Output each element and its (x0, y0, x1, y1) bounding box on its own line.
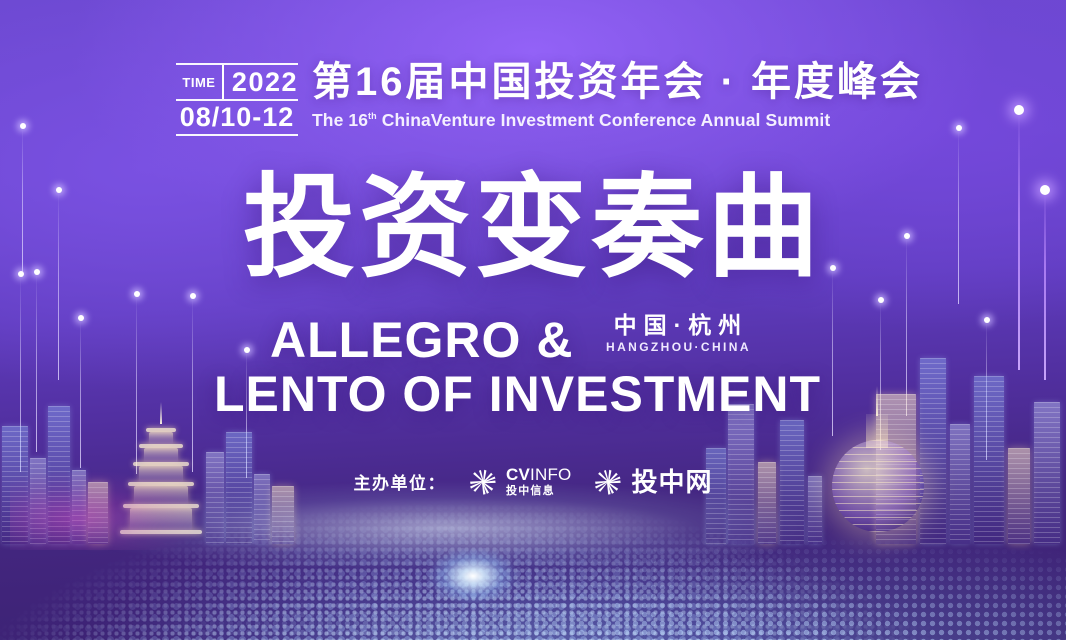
organizer-name-en: CVINFO (506, 466, 571, 483)
city-block: 中国·杭州 HANGZHOU·CHINA (604, 312, 751, 354)
badge-time-label: TIME (176, 65, 222, 99)
organizer-logo-text: 投中网 (631, 469, 712, 495)
badge-rule-bottom (176, 134, 298, 136)
city-name-en: HANGZHOU·CHINA (604, 340, 751, 354)
badge-divider (222, 65, 224, 99)
starburst-icon (593, 467, 623, 497)
conference-poster: TIME 2022 08/10-12 第16届中国投资年会 · 年度峰会 The… (0, 0, 1066, 640)
badge-year: 2022 (232, 65, 298, 99)
theme-en-line1: ALLEGRO & (270, 314, 573, 366)
organizer-logo-cvinfo[interactable]: CVINFO 投中信息 (468, 466, 571, 497)
organizers-label: 主办单位： (354, 469, 447, 494)
theme-headline-cn-wrap: 投资变奏曲 (0, 172, 1066, 284)
organizer-logo-text: CVINFO 投中信息 (506, 466, 571, 497)
organizer-name-en-thin: INFO (530, 465, 571, 484)
badge-rule-mid (176, 99, 298, 101)
city-name-cn: 中国·杭州 (604, 312, 751, 338)
conference-title-en: The 16th ChinaVenture Investment Confere… (312, 110, 923, 131)
organizer-name-en-bold: CV (506, 465, 530, 484)
organizer-name-cn: 投中信息 (506, 486, 571, 497)
date-badge: TIME 2022 08/10-12 (176, 63, 298, 136)
title-en-rest: ChinaVenture Investment Conference Annua… (377, 110, 831, 130)
theme-headline-cn: 投资变奏曲 (243, 172, 823, 284)
conference-title: 第16届中国投资年会 · 年度峰会 The 16th ChinaVenture … (312, 60, 923, 131)
title-en-ordinal: th (368, 111, 377, 121)
badge-days: 08/10-12 (176, 101, 298, 134)
theme-en-line2: LENTO OF INVESTMENT (214, 368, 821, 420)
badge-rule-top (176, 63, 298, 65)
starburst-icon (468, 467, 498, 497)
organizer-name-cn: 投中网 (631, 469, 712, 495)
conference-title-cn: 第16届中国投资年会 · 年度峰会 (312, 60, 923, 105)
title-en-prefix: The 16 (312, 110, 368, 130)
organizer-logo-touzhongwang[interactable]: 投中网 (593, 467, 712, 497)
organizers-row: 主办单位： (0, 466, 1066, 497)
